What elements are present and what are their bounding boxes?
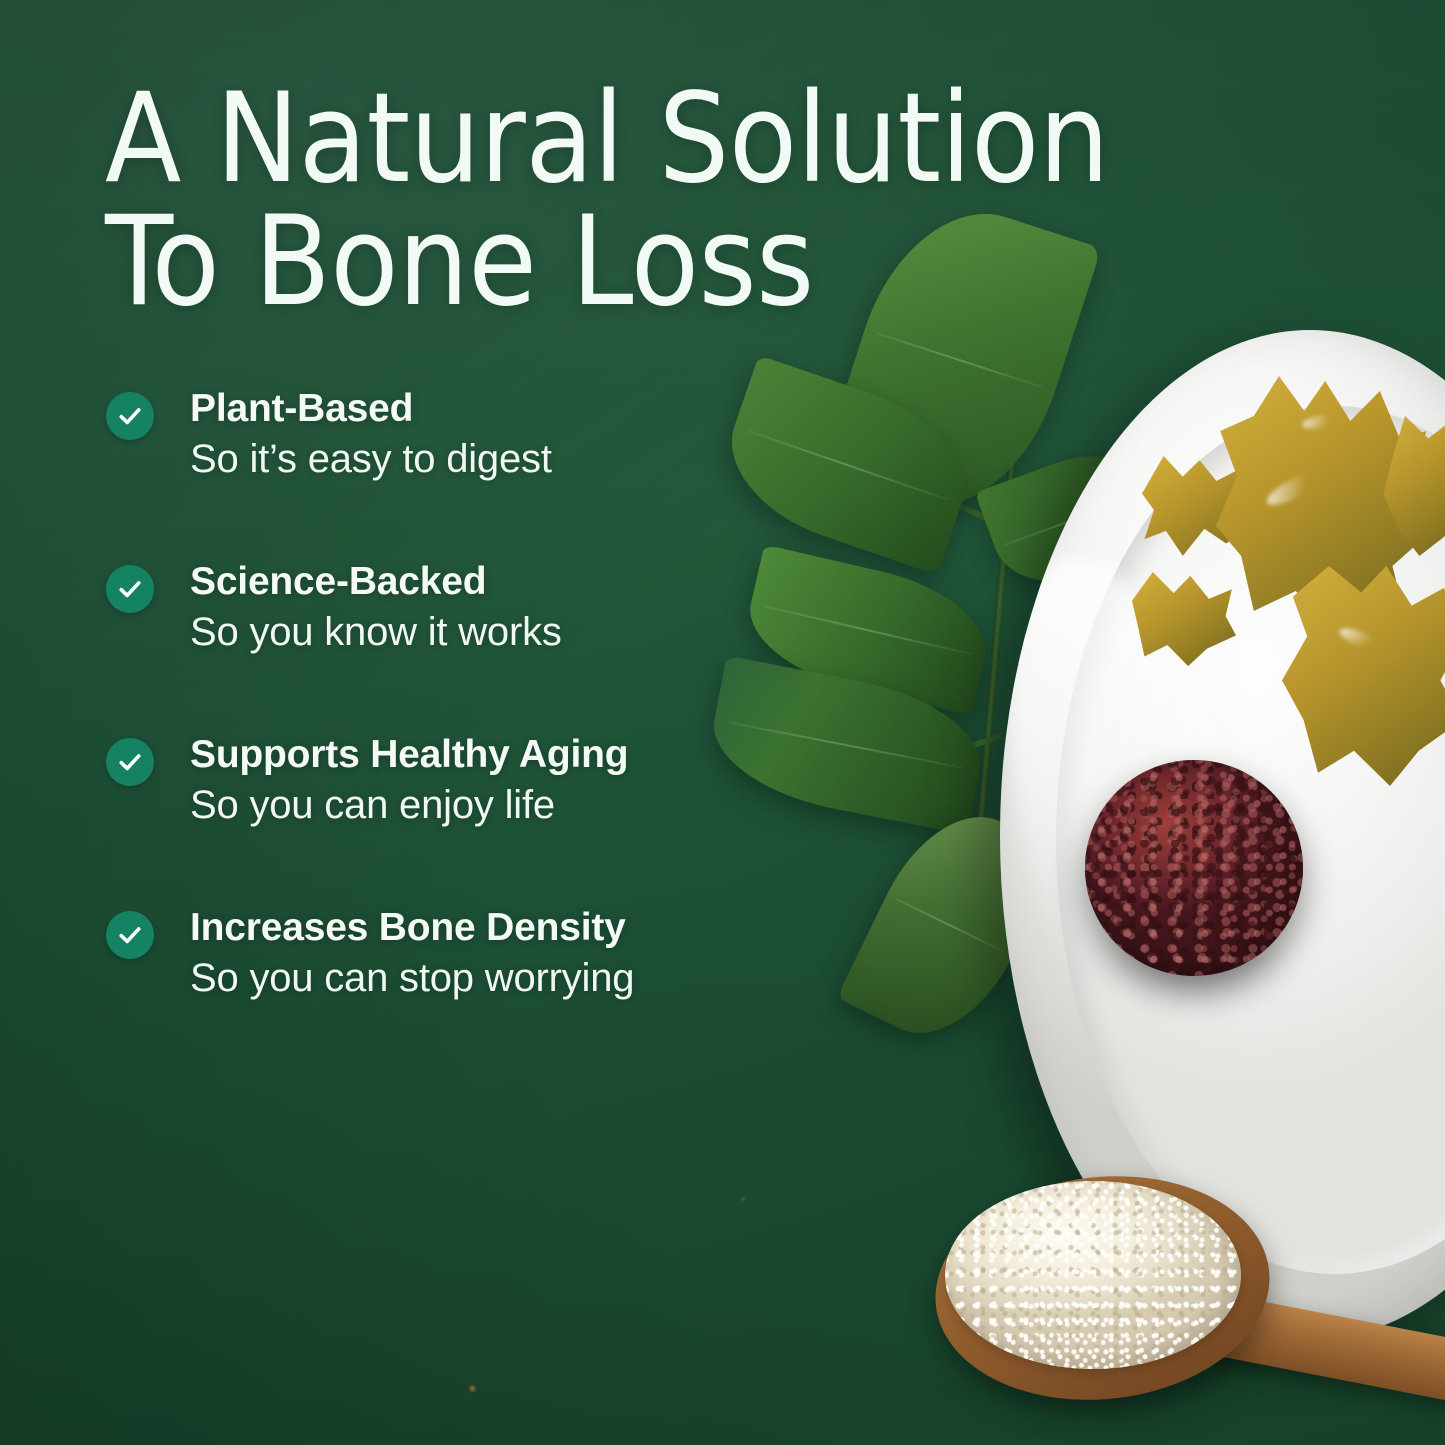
page-title: A Natural Solution To Bone Loss xyxy=(105,78,1115,324)
wooden-spoon xyxy=(925,1165,1445,1445)
benefit-title: Increases Bone Density xyxy=(190,907,826,949)
benefit-subtitle: So you know it works xyxy=(190,610,826,655)
benefit-title: Supports Healthy Aging xyxy=(190,734,826,776)
list-item: Increases Bone Density So you can stop w… xyxy=(106,907,826,1023)
benefit-subtitle: So it’s easy to digest xyxy=(190,437,826,482)
red-sea-moss-ball xyxy=(1085,760,1303,976)
powder-heap xyxy=(945,1181,1241,1369)
benefit-subtitle: So you can stop worrying xyxy=(190,956,826,1001)
powder-texture xyxy=(945,1181,1241,1369)
leaf-vein xyxy=(876,332,1044,388)
product-benefits-graphic: A Natural Solution To Bone Loss Plant-Ba… xyxy=(0,0,1445,1445)
moss-texture xyxy=(1085,760,1303,976)
benefits-list: Plant-Based So it’s easy to digest Scien… xyxy=(106,388,826,1023)
seaweed-frond xyxy=(1132,572,1236,668)
seaweed-cluster xyxy=(1132,376,1445,806)
background-speck xyxy=(469,1385,476,1392)
benefit-subtitle: So you can enjoy life xyxy=(190,783,826,828)
check-icon xyxy=(106,565,154,613)
seaweed-frond xyxy=(1282,566,1445,786)
list-item: Science-Backed So you know it works xyxy=(106,561,826,677)
check-icon xyxy=(106,911,154,959)
check-icon xyxy=(106,738,154,786)
check-icon xyxy=(106,392,154,440)
list-item: Plant-Based So it’s easy to digest xyxy=(106,388,826,504)
leaf-vein xyxy=(894,897,1005,952)
benefit-title: Plant-Based xyxy=(190,388,826,430)
benefit-title: Science-Backed xyxy=(190,561,826,603)
list-item: Supports Healthy Aging So you can enjoy … xyxy=(106,734,826,850)
